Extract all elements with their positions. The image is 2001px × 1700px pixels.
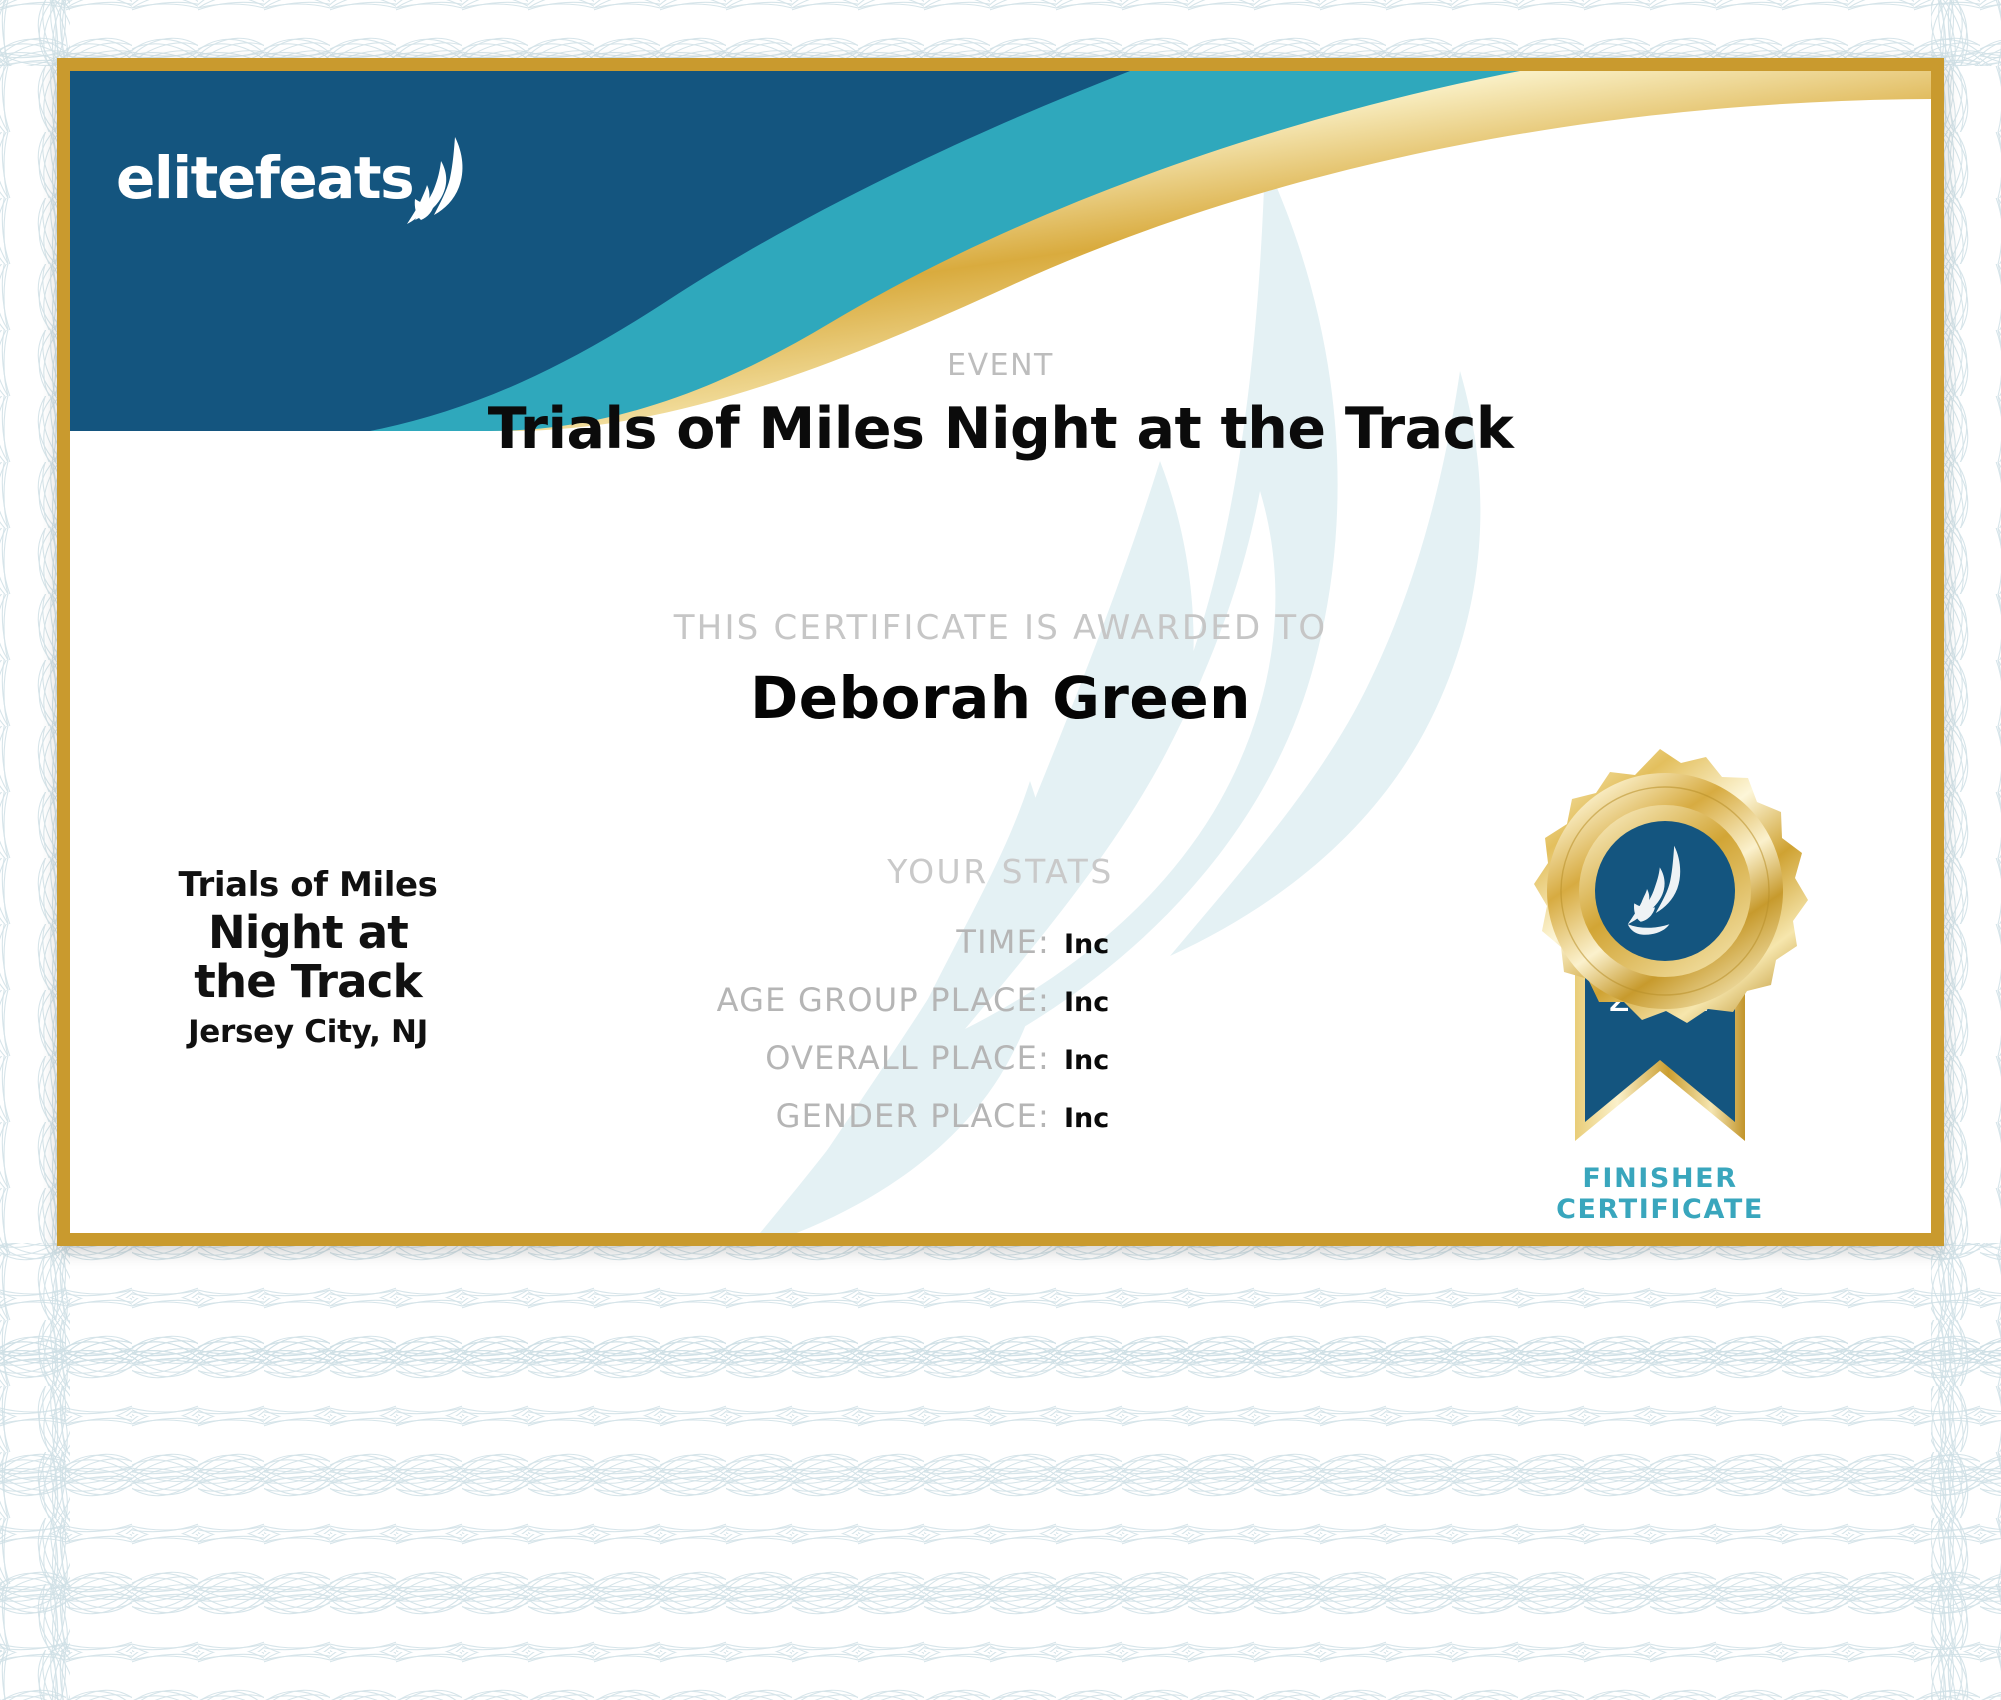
stats-table: TIME: Inc AGE GROUP PLACE: Inc OVERALL P… (370, 923, 1180, 1155)
event-logo: Trials of Miles Night at the Track Jerse… (158, 866, 458, 1050)
event-logo-line-1: Trials of Miles (158, 866, 458, 905)
winged-foot-icon (407, 133, 479, 225)
stat-value-time: Inc (1064, 929, 1180, 960)
finisher-certificate-caption: FINISHER CERTIFICATE (1500, 1163, 1820, 1226)
finisher-caption-line-2: CERTIFICATE (1500, 1194, 1820, 1225)
brand-wordmark: elitefeats (116, 149, 413, 207)
brand-logo: elitefeats (116, 133, 479, 207)
stat-label-gender-place: GENDER PLACE: (776, 1097, 1050, 1135)
stat-value-overall-place: Inc (1064, 1045, 1180, 1076)
event-logo-location: Jersey City, NJ (158, 1014, 458, 1050)
table-row: TIME: Inc (370, 923, 1180, 981)
stat-label-overall-place: OVERALL PLACE: (765, 1039, 1050, 1077)
event-title: Trials of Miles Night at the Track (70, 396, 1931, 462)
awarded-to-label: THIS CERTIFICATE IS AWARDED TO (70, 608, 1931, 648)
stat-value-gender-place: Inc (1064, 1103, 1180, 1134)
recipient-name: Deborah Green (70, 664, 1931, 732)
table-row: GENDER PLACE: Inc (370, 1097, 1180, 1155)
table-row: AGE GROUP PLACE: Inc (370, 981, 1180, 1039)
event-logo-line-3: the Track (158, 958, 458, 1007)
event-logo-line-2: Night at (158, 909, 458, 958)
stat-label-time: TIME: (956, 923, 1050, 961)
event-label: EVENT (70, 348, 1931, 383)
stat-value-age-group-place: Inc (1064, 987, 1180, 1018)
finisher-caption-line-1: FINISHER (1500, 1163, 1820, 1194)
certificate-page: elitefeats EVENT Trials of Miles Night a… (0, 0, 2001, 1700)
certificate-gold-frame: elitefeats EVENT Trials of Miles Night a… (57, 58, 1944, 1246)
stat-label-age-group-place: AGE GROUP PLACE: (717, 981, 1050, 1019)
medal-center-disc (1595, 821, 1735, 961)
table-row: OVERALL PLACE: Inc (370, 1039, 1180, 1097)
finisher-medal-seal: 2021 (1505, 741, 1815, 1201)
certificate-content: EVENT Trials of Miles Night at the Track… (70, 71, 1931, 1233)
certificate-inner-surface: elitefeats EVENT Trials of Miles Night a… (70, 71, 1931, 1233)
